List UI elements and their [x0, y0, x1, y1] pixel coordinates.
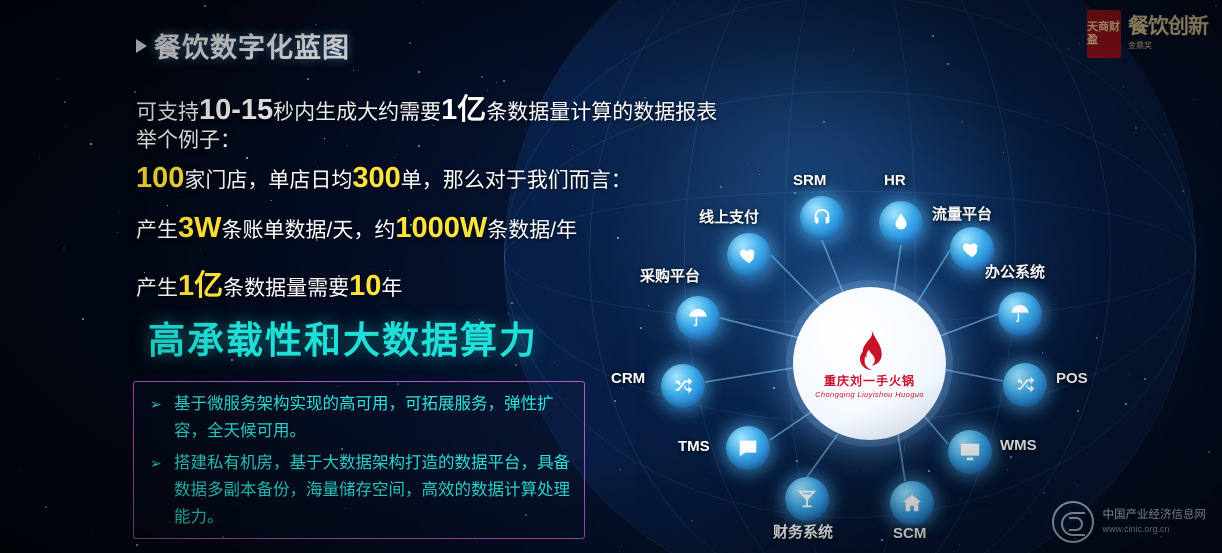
- body-line-2: 举个例子：: [136, 124, 241, 154]
- heart-icon: [961, 238, 983, 260]
- hub-logo: 重庆刘一手火锅 Chongqing Liuyishou Huoguo: [793, 287, 946, 440]
- shuffle-icon: [1014, 374, 1036, 396]
- node-label-crm: CRM: [611, 370, 645, 387]
- line3-number-1: 100: [136, 162, 184, 194]
- node-crm[interactable]: [661, 364, 705, 408]
- node-label-office: 办公系统: [985, 261, 1045, 282]
- globe-graphic: [505, 0, 1195, 553]
- node-scm[interactable]: [890, 481, 934, 525]
- cinic-mark-icon: [1052, 501, 1094, 543]
- heart-icon: [738, 244, 760, 266]
- line5-text-b: 条数据量需要: [223, 277, 349, 300]
- node-finance[interactable]: [785, 477, 829, 521]
- node-srm[interactable]: [800, 196, 844, 240]
- node-label-tms: TMS: [678, 438, 710, 455]
- award-subtitle-text: 金鼎奖: [1128, 40, 1208, 51]
- line5-text-a: 产生: [136, 277, 178, 300]
- node-label-scm: SCM: [893, 525, 926, 542]
- bullet-item-1-text: 基于微服务架构实现的高可用，可拓展服务，弹性扩容，全天候可用。: [150, 391, 570, 445]
- node-wms[interactable]: [948, 430, 992, 474]
- line4-text-a: 产生: [136, 219, 178, 242]
- headset-icon: [811, 207, 833, 229]
- line2-text: 举个例子：: [136, 129, 241, 152]
- cinic-url: www.cinic.org.cn: [1103, 522, 1207, 536]
- droplet-icon: [890, 212, 912, 234]
- line3-number-2: 300: [352, 162, 400, 194]
- flame-logo-icon: [853, 328, 887, 372]
- node-label-pos: POS: [1056, 370, 1088, 387]
- arrow-right-icon: ➢: [150, 450, 162, 477]
- award-badge: 天商财盈: [1087, 10, 1121, 58]
- node-label-online-pay: 线上支付: [699, 206, 759, 227]
- bullet-item-2: ➢ 搭建私有机房，基于大数据架构打造的数据平台，具备数据多副本备份，海量储存空间…: [150, 450, 570, 531]
- body-line-1: 可支持10-15秒内生成大约需要1亿条数据量计算的数据报表: [136, 86, 717, 128]
- line4-number-1: 3W: [178, 212, 222, 244]
- line3-text-a: 家门店，单店日均: [184, 169, 352, 192]
- cinic-name: 中国产业经济信息网: [1103, 508, 1207, 522]
- highlight-title: 高承载性和大数据算力: [148, 310, 538, 364]
- line5-number-2: 10: [349, 270, 381, 302]
- node-purchase[interactable]: [676, 296, 720, 340]
- triangle-right-icon: [136, 39, 147, 53]
- body-line-4: 产生3W条账单数据/天，约1000W条数据/年: [136, 212, 577, 245]
- hub-name-pinyin: Chongqing Liuyishou Huoguo: [815, 390, 924, 399]
- umbrella-icon: [687, 307, 709, 329]
- node-label-hr: HR: [884, 172, 906, 189]
- line4-number-2: 1000W: [395, 212, 487, 244]
- node-tms[interactable]: [726, 426, 770, 470]
- node-office[interactable]: [998, 292, 1042, 336]
- hub-name-cn: 重庆刘一手火锅: [824, 374, 915, 388]
- node-label-srm: SRM: [793, 172, 826, 189]
- award-title: 餐饮创新 金鼎奖: [1128, 10, 1208, 51]
- line5-text-c: 年: [381, 277, 402, 300]
- bullet-item-1: ➢ 基于微服务架构实现的高可用，可拓展服务，弹性扩容，全天候可用。: [150, 391, 570, 445]
- line1-text-b: 秒内生成大约需要: [273, 101, 441, 124]
- award-logo: 天商财盈 餐饮创新 金鼎奖: [1087, 10, 1208, 58]
- line1-text-c: 条数据量计算的数据报表: [486, 101, 717, 124]
- umbrella-icon: [1009, 303, 1031, 325]
- node-label-finance: 财务系统: [773, 521, 833, 542]
- home-icon: [901, 492, 923, 514]
- cocktail-icon: [796, 488, 818, 510]
- node-label-traffic: 流量平台: [932, 203, 992, 224]
- arrow-right-icon: ➢: [150, 391, 162, 418]
- node-pos[interactable]: [1003, 363, 1047, 407]
- line5-number-1: 1亿: [178, 270, 223, 302]
- node-hr[interactable]: [879, 201, 923, 245]
- page-title: 餐饮数字化蓝图: [154, 26, 350, 65]
- bullet-item-2-text: 搭建私有机房，基于大数据架构打造的数据平台，具备数据多副本备份，海量储存空间，高…: [150, 450, 570, 531]
- node-label-purchase: 采购平台: [640, 265, 700, 286]
- body-line-5: 产生1亿条数据量需要10年: [136, 262, 402, 304]
- monitor-icon: [959, 441, 981, 463]
- shuffle-icon: [672, 375, 694, 397]
- bullet-box: ➢ 基于微服务架构实现的高可用，可拓展服务，弹性扩容，全天候可用。 ➢ 搭建私有…: [133, 381, 585, 539]
- node-label-wms: WMS: [1000, 437, 1037, 454]
- line1-number-2: 1亿: [441, 94, 486, 126]
- message-icon: [737, 437, 759, 459]
- section-header: 餐饮数字化蓝图: [136, 26, 350, 65]
- line4-text-b: 条账单数据/天，约: [222, 219, 396, 242]
- award-title-text: 餐饮创新: [1128, 13, 1208, 38]
- line1-text-a: 可支持: [136, 101, 199, 124]
- body-line-3: 100家门店，单店日均300单，那么对于我们而言：: [136, 162, 632, 195]
- cinic-text: 中国产业经济信息网 www.cinic.org.cn: [1103, 508, 1207, 536]
- line4-text-c: 条数据/年: [487, 219, 577, 242]
- slide-canvas: 餐饮数字化蓝图 可支持10-15秒内生成大约需要1亿条数据量计算的数据报表 举个…: [0, 0, 1222, 553]
- line1-number-1: 10-15: [199, 94, 273, 126]
- line3-text-b: 单，那么对于我们而言：: [401, 169, 632, 192]
- cinic-logo: 中国产业经济信息网 www.cinic.org.cn: [1052, 501, 1207, 543]
- node-online-pay[interactable]: [727, 233, 771, 277]
